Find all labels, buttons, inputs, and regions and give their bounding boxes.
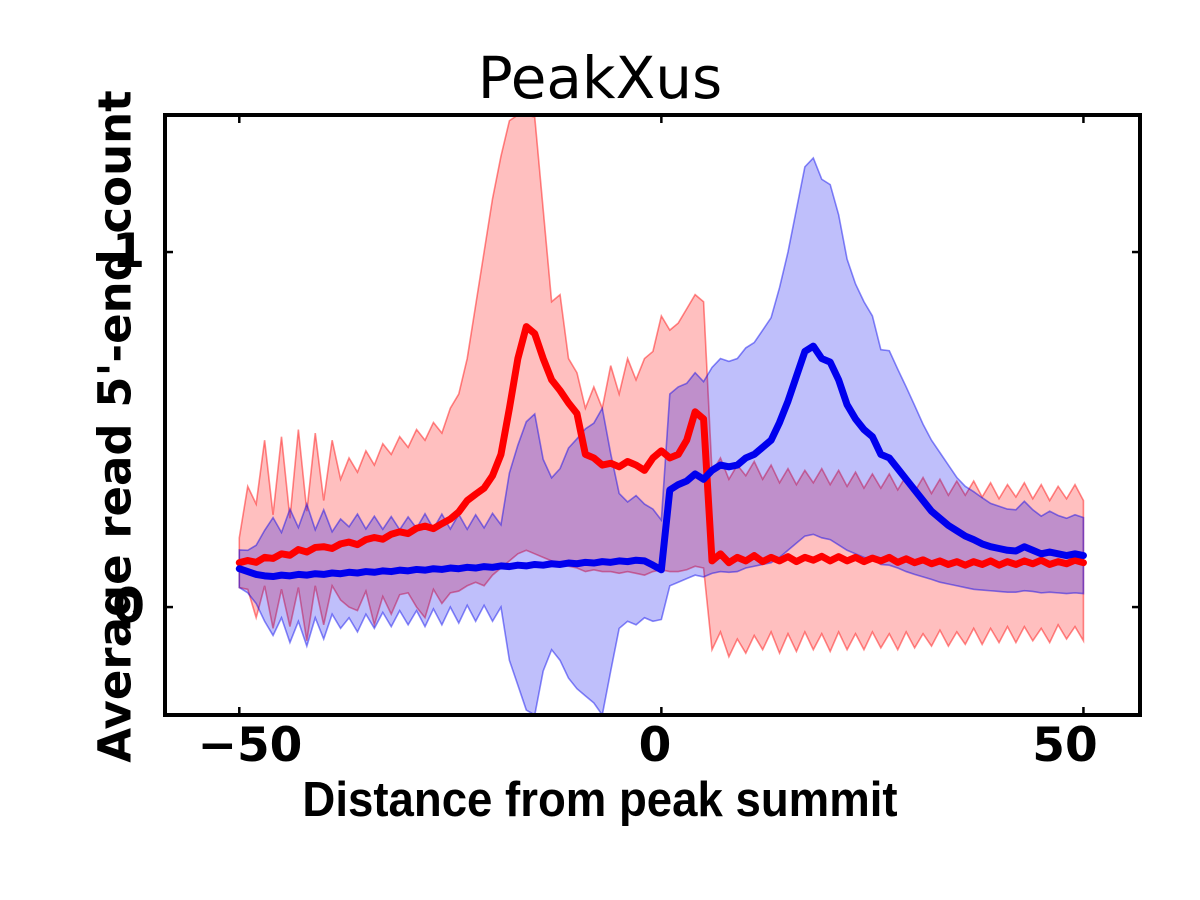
y-tick-label-0: 0	[55, 579, 145, 634]
y-axis-label: Average read 5'-end count	[89, 67, 142, 787]
x-axis-label: Distance from peak summit	[42, 772, 1158, 828]
x-tick-label-50: 50	[975, 718, 1155, 773]
figure-canvas: PeakXus Average read 5'-end count Distan…	[0, 0, 1200, 900]
x-tick-label-minus-50: −50	[160, 718, 340, 773]
confidence-bands-group	[239, 115, 1083, 715]
chart-title: PeakXus	[0, 44, 1200, 112]
y-tick-label-1: 1	[55, 224, 145, 279]
x-tick-label-0: 0	[565, 718, 745, 773]
